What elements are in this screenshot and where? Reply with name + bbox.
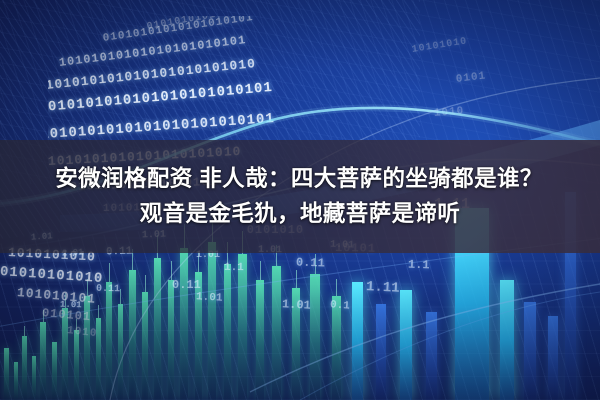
headline-line-2: 观音是金毛犰，地藏菩萨是谛听 [140, 197, 461, 232]
headline-block: 安微润格配资 非人哉：四大菩萨的坐骑都是谁？ 观音是金毛犰，地藏菩萨是谛听 [0, 140, 600, 253]
headline-line-1: 安微润格配资 非人哉：四大菩萨的坐骑都是谁？ [55, 162, 545, 197]
image-canvas: 0101010101010101010110101010101010101010… [0, 0, 600, 400]
